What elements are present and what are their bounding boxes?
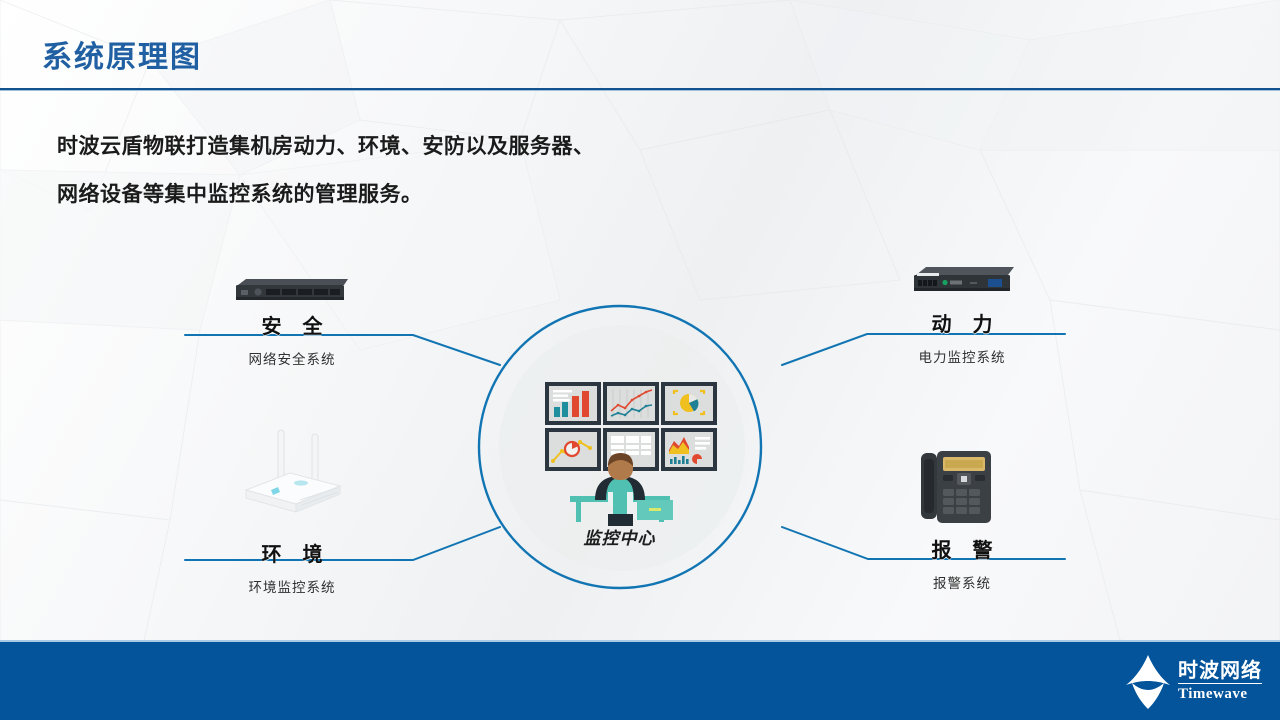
scatter-chart-monitor (545, 428, 601, 471)
node-title-power: 动 力 (847, 308, 1077, 337)
company-logo: 时波网络 Timewave (1122, 651, 1262, 711)
line-chart-monitor (603, 382, 659, 425)
mixed-chart-monitor (661, 428, 717, 471)
title-divider-highlight (0, 90, 1280, 91)
logo-text-block: 时波网络 Timewave (1178, 660, 1262, 702)
bar-chart-monitor (545, 382, 601, 425)
node-label-environment: 环 境 环境监控系统 (177, 538, 407, 596)
node-subtitle-power: 电力监控系统 (847, 346, 1077, 366)
node-subtitle-safety: 网络安全系统 (177, 348, 407, 368)
node-title-environment: 环 境 (177, 538, 407, 567)
footer-bar (0, 642, 1280, 720)
center-node-label: 监控中心 (527, 524, 712, 549)
node-title-safety: 安 全 (177, 310, 407, 339)
wireless-router-icon (238, 428, 348, 520)
node-title-alarm: 报 警 (847, 534, 1077, 563)
node-subtitle-alarm: 报警系统 (847, 572, 1077, 592)
node-label-safety: 安 全 网络安全系统 (177, 310, 407, 368)
logo-name-en: Timewave (1178, 687, 1262, 702)
logo-name-cn: 时波网络 (1178, 660, 1262, 680)
intro-paragraph: 时波云盾物联打造集机房动力、环境、安防以及服务器、 网络设备等集中监控系统的管理… (57, 122, 817, 218)
desk-phone-icon (917, 447, 997, 533)
node-subtitle-environment: 环境监控系统 (177, 576, 407, 596)
page-title: 系统原理图 (42, 32, 202, 76)
rackmount-firewall-icon (232, 275, 352, 307)
intro-line-1: 时波云盾物联打造集机房动力、环境、安防以及服务器、 (57, 122, 817, 170)
node-label-alarm: 报 警 报警系统 (847, 534, 1077, 592)
slide-canvas: 系统原理图 时波云盾物联打造集机房动力、环境、安防以及服务器、 网络设备等集中监… (0, 0, 1280, 720)
intro-line-2: 网络设备等集中监控系统的管理服务。 (57, 170, 817, 218)
logo-divider (1178, 683, 1262, 684)
pie-chart-monitor (661, 382, 717, 425)
node-label-power: 动 力 电力监控系统 (847, 308, 1077, 366)
rackmount-power-unit-icon (908, 263, 1018, 299)
timewave-wave-icon (1122, 651, 1174, 711)
